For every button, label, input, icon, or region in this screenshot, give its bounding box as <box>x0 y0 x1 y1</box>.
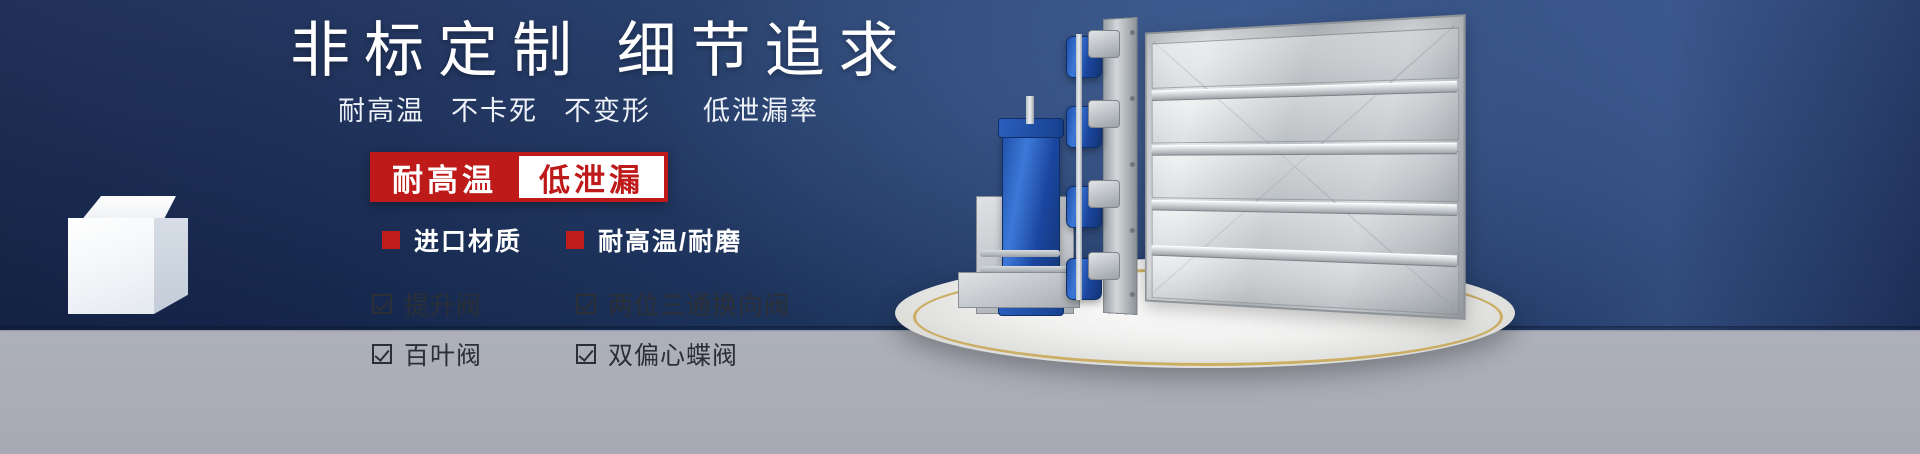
checkmark-icon <box>576 344 596 364</box>
linkage-clamp <box>1088 30 1120 58</box>
checklist-item: 提升阀 <box>372 286 542 322</box>
red-square-icon <box>566 231 584 249</box>
decorative-cube <box>68 196 188 314</box>
valve-manifold <box>958 272 1080 308</box>
subtitle-part-2: 不卡死 <box>451 96 538 126</box>
promo-banner: 非标定制 细节追求 耐高温不卡死不变形低泄漏率 耐高温 低泄漏 进口材质 耐高温… <box>0 0 1920 454</box>
checklist-item: 百叶阀 <box>372 336 542 372</box>
red-square-icon <box>382 231 400 249</box>
linkage-clamp <box>1088 180 1120 208</box>
actuator-rod <box>1026 96 1034 124</box>
checkmark-icon <box>576 294 596 314</box>
air-pipe <box>980 250 1060 257</box>
checkmark-icon <box>372 294 392 314</box>
linkage-clamp <box>1088 100 1120 128</box>
badge-left-label: 耐高温 <box>370 152 519 202</box>
checklist-label: 双偏心蝶阀 <box>608 336 738 372</box>
checklist-item: 双偏心蝶阀 <box>576 336 790 372</box>
bullet-item: 耐高温/耐磨 <box>566 222 742 258</box>
checklist-label: 两位三通换向阀 <box>608 286 790 322</box>
linkage-rod <box>1076 34 1082 300</box>
cube-side-face <box>154 218 188 314</box>
subtitle: 耐高温不卡死不变形低泄漏率 <box>338 92 819 130</box>
checkmark-icon <box>372 344 392 364</box>
louver-damper-body <box>1145 14 1466 320</box>
subtitle-part-3: 不变形 <box>564 96 651 126</box>
damper-panel <box>1152 27 1459 88</box>
checklist-label: 提升阀 <box>404 286 482 322</box>
bullet-item: 进口材质 <box>382 222 522 258</box>
bullet-label: 进口材质 <box>414 222 522 258</box>
feature-bullets: 进口材质 耐高温/耐磨 <box>382 222 742 258</box>
checklist-item: 两位三通换向阀 <box>576 286 790 322</box>
checklist-label: 百叶阀 <box>404 336 482 372</box>
subtitle-part-4: 低泄漏率 <box>703 96 819 126</box>
page-title: 非标定制 细节追求 <box>290 16 913 86</box>
linkage-clamp <box>1088 252 1120 280</box>
subtitle-part-1: 耐高温 <box>338 96 425 126</box>
product-image <box>880 0 1920 400</box>
feature-badge: 耐高温 低泄漏 <box>370 152 668 202</box>
cube-front-face <box>68 218 154 314</box>
damper-blade <box>1152 143 1457 156</box>
badge-right-label: 低泄漏 <box>519 152 668 202</box>
product-checklist: 提升阀 两位三通换向阀 百叶阀 双偏心蝶阀 <box>372 286 790 372</box>
bullet-label: 耐高温/耐磨 <box>598 222 742 258</box>
damper-panel <box>1152 151 1459 202</box>
